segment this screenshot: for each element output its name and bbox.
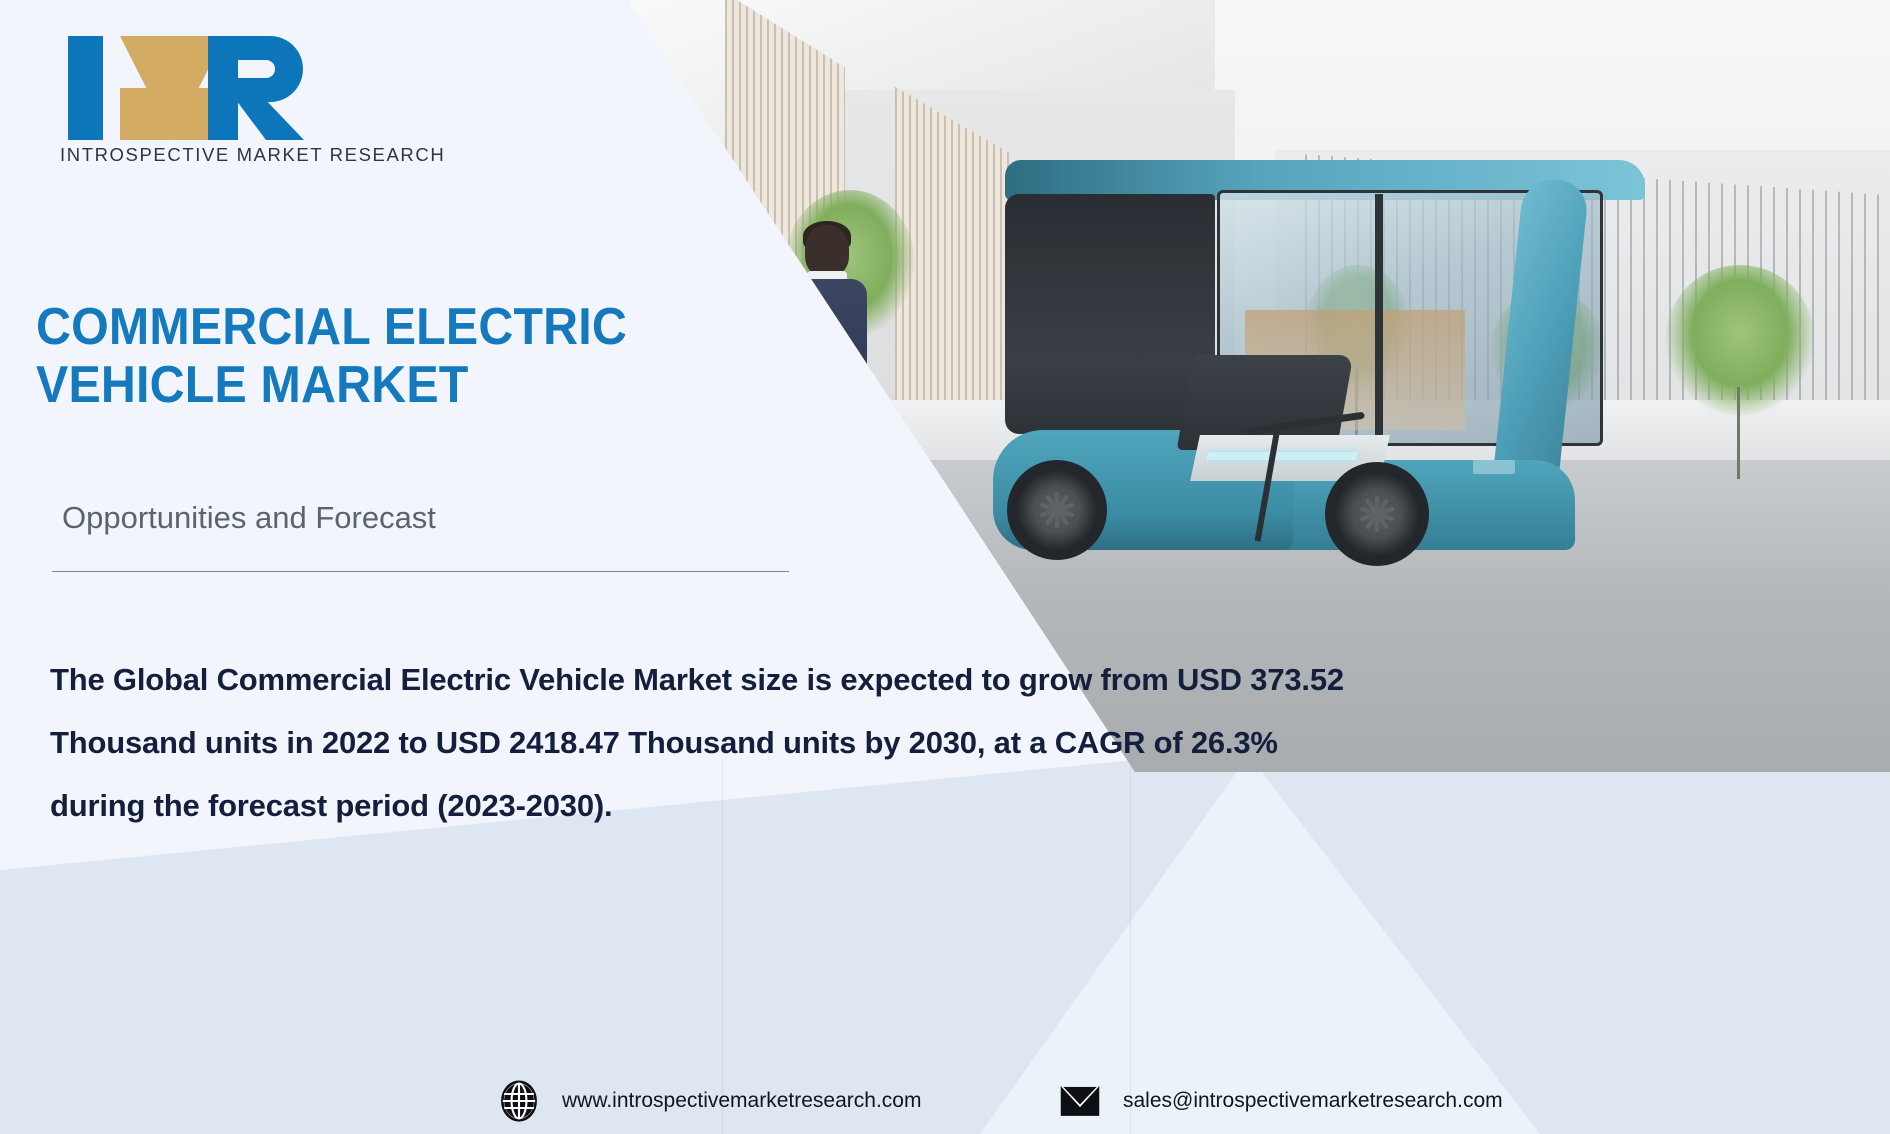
envelope-icon: [1059, 1080, 1101, 1122]
title-divider: [52, 571, 789, 572]
footer-email-text: sales@introspectivemarketresearch.com: [1123, 1089, 1503, 1113]
summary-paragraph: The Global Commercial Electric Vehicle M…: [50, 648, 1350, 837]
logo-letter-i: [68, 36, 103, 140]
footer-website[interactable]: www.introspectivemarketresearch.com: [498, 1080, 921, 1122]
market-report-cover: INTROSPECTIVE MARKET RESEARCH COMMERCIAL…: [0, 0, 1890, 1134]
footer-email[interactable]: sales@introspectivemarketresearch.com: [1059, 1080, 1503, 1122]
page-title: COMMERCIAL ELECTRIC VEHICLE MARKET: [36, 298, 715, 414]
photo-electric-vehicle: [945, 160, 1705, 560]
page-subtitle: Opportunities and Forecast: [62, 500, 436, 536]
logo-tagline: INTROSPECTIVE MARKET RESEARCH: [60, 144, 445, 166]
globe-icon: [498, 1080, 540, 1122]
logo-letter-r: [208, 36, 308, 140]
footer-website-text: www.introspectivemarketresearch.com: [562, 1089, 921, 1113]
footer: www.introspectivemarketresearch.com sale…: [0, 1060, 1890, 1134]
imr-logo[interactable]: INTROSPECTIVE MARKET RESEARCH: [58, 24, 318, 179]
